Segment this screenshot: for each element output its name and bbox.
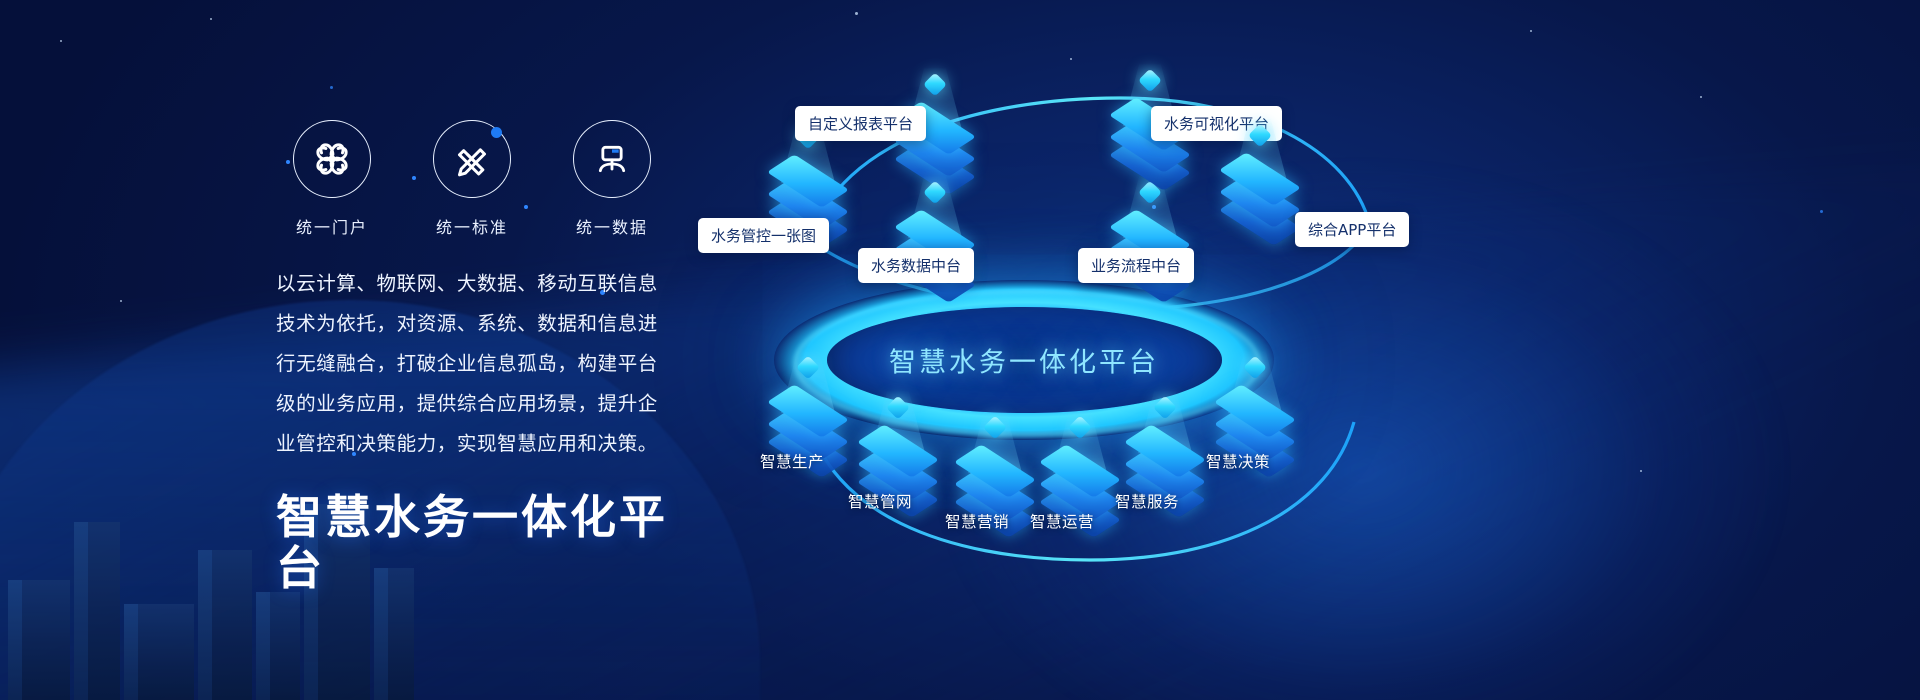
page-title: 智慧水务一体化平台 [276,492,676,593]
label-smart-marketing[interactable]: 智慧营销 [945,510,1009,532]
node-slab-top [1127,435,1203,473]
feature-icon-circle [433,120,511,198]
feature-unified-data[interactable]: 统一数据 [556,120,668,238]
feature-label: 统一标准 [416,214,528,238]
feature-unified-portal[interactable]: 统一门户 [276,120,388,238]
node-slab-top [957,455,1033,493]
label-smart-operations[interactable]: 智慧运营 [1030,510,1094,532]
node-slab-top [1222,163,1298,201]
node-slab-top [1217,395,1293,433]
label-smart-pipe-network[interactable]: 智慧管网 [848,490,912,512]
platform-diagram: 智慧水务一体化平台 水务管控一张图 自定义报表平台 水务数据中台 [690,40,1880,660]
pen-ruler-icon [452,139,492,179]
atom-icon [311,138,353,180]
center-label: 智慧水务一体化平台 [774,341,1274,380]
node-slab-top [1042,455,1118,493]
feature-unified-standard[interactable]: 统一标准 [416,120,528,238]
label-water-data-midend[interactable]: 水务数据中台 [858,248,974,283]
label-integrated-app[interactable]: 综合APP平台 [1295,212,1409,247]
feature-icon-circle [573,120,651,198]
label-business-process-midend[interactable]: 业务流程中台 [1078,248,1194,283]
node-integrated-app[interactable] [1220,163,1300,237]
label-smart-service[interactable]: 智慧服务 [1115,490,1179,512]
node-slab-top [770,165,846,203]
left-content: 统一门户 统一标准 [276,120,676,593]
label-smart-production[interactable]: 智慧生产 [760,450,824,472]
banner-stage: 统一门户 统一标准 [0,0,1920,700]
central-ring: 智慧水务一体化平台 [774,280,1274,440]
label-custom-report[interactable]: 自定义报表平台 [795,106,926,141]
label-water-control-map[interactable]: 水务管控一张图 [698,218,829,253]
feature-icon-circle [293,120,371,198]
feature-row: 统一门户 统一标准 [276,120,668,238]
data-node-icon [592,139,632,179]
node-slab-top [770,395,846,433]
feature-label: 统一数据 [556,214,668,238]
label-smart-decision[interactable]: 智慧决策 [1206,450,1270,472]
description-paragraph: 以云计算、物联网、大数据、移动互联信息技术为依托，对资源、系统、数据和信息进行无… [276,264,658,464]
feature-label: 统一门户 [276,214,388,238]
feature-accent-dot [491,127,502,138]
node-slab-top [860,435,936,473]
